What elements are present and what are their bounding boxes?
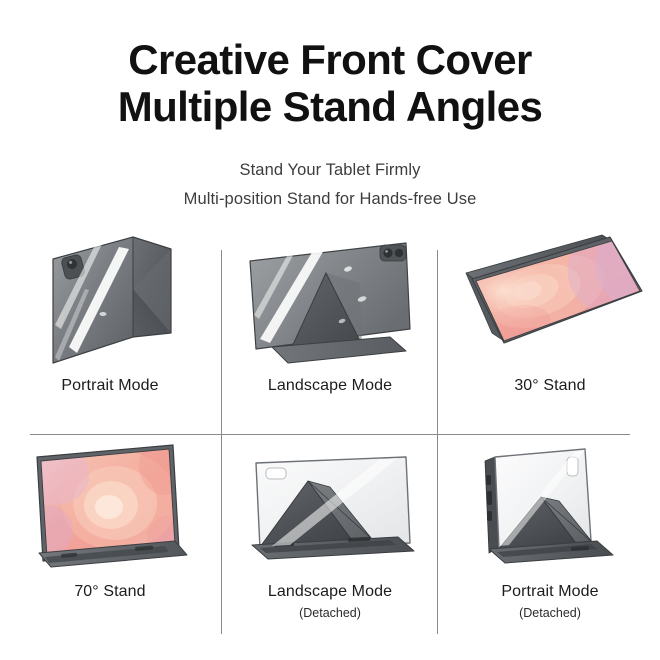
tablet-portrait-cover-icon <box>15 229 205 375</box>
grid-cell-portrait-mode: Portrait Mode <box>0 228 220 434</box>
tablet-30-degree-icon <box>452 229 648 375</box>
caption-main: 30° Stand <box>440 376 660 395</box>
page-title-line-2: Multiple Stand Angles <box>0 83 660 130</box>
cell-caption: 70° Stand <box>0 582 220 601</box>
caption-sub: (Detached) <box>440 606 660 621</box>
grid-row-1: Portrait Mode <box>0 228 660 434</box>
cell-caption: Portrait Mode <box>0 376 220 395</box>
subtitle-line-1: Stand Your Tablet Firmly <box>0 156 660 185</box>
cell-caption: Portrait Mode (Detached) <box>440 582 660 621</box>
cover-portrait-detached-icon <box>455 435 645 581</box>
caption-main: Portrait Mode <box>440 582 660 601</box>
figure-stage <box>0 228 220 376</box>
tablet-70-degree-icon <box>15 435 205 581</box>
feature-grid: Portrait Mode <box>0 228 660 648</box>
header: Creative Front Cover Multiple Stand Angl… <box>0 0 660 214</box>
figure-stage <box>440 434 660 582</box>
figure-stage <box>440 228 660 376</box>
subtitle-block: Stand Your Tablet Firmly Multi-position … <box>0 156 660 214</box>
caption-main: Landscape Mode <box>220 582 440 601</box>
cover-landscape-detached-icon <box>230 435 430 581</box>
grid-row-2: 70° Stand <box>0 434 660 640</box>
tablet-landscape-stand-icon <box>230 229 430 375</box>
caption-main: Landscape Mode <box>220 376 440 395</box>
page-title-line-1: Creative Front Cover <box>0 36 660 83</box>
grid-cell-70-degree-stand: 70° Stand <box>0 434 220 640</box>
caption-main: Portrait Mode <box>0 376 220 395</box>
cell-caption: 30° Stand <box>440 376 660 395</box>
caption-main: 70° Stand <box>0 582 220 601</box>
subtitle-line-2: Multi-position Stand for Hands-free Use <box>0 185 660 214</box>
figure-stage <box>220 434 440 582</box>
caption-sub: (Detached) <box>220 606 440 621</box>
figure-stage <box>220 228 440 376</box>
cell-caption: Landscape Mode (Detached) <box>220 582 440 621</box>
grid-cell-landscape-mode: Landscape Mode <box>220 228 440 434</box>
grid-cell-landscape-detached: Landscape Mode (Detached) <box>220 434 440 640</box>
cell-caption: Landscape Mode <box>220 376 440 395</box>
grid-cell-30-degree-stand: 30° Stand <box>440 228 660 434</box>
grid-cell-portrait-detached: Portrait Mode (Detached) <box>440 434 660 640</box>
figure-stage <box>0 434 220 582</box>
